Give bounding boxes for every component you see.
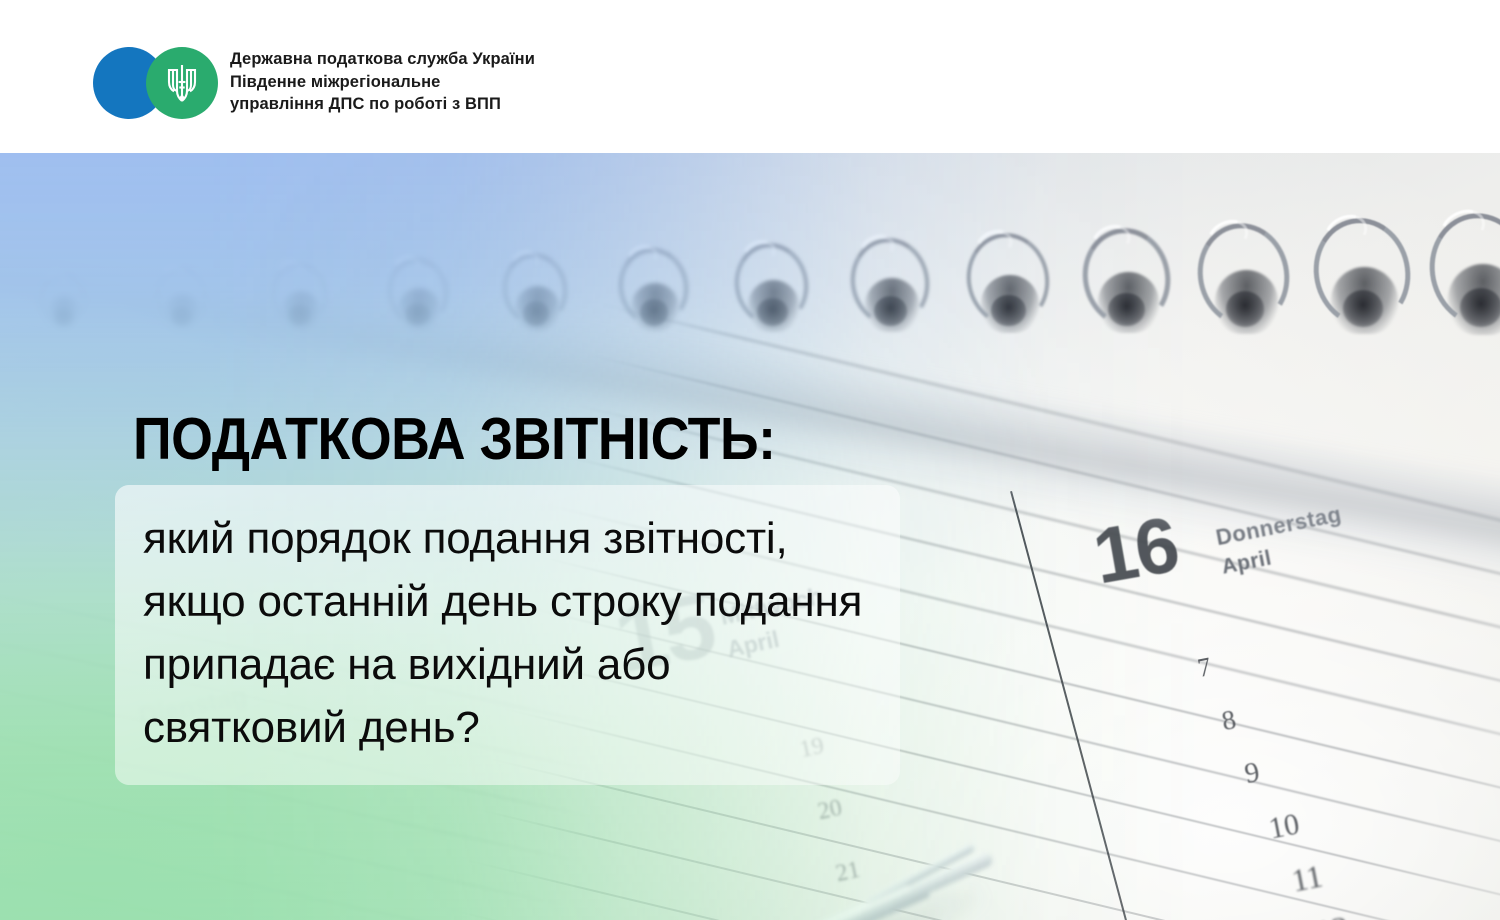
site-header: Державна податкова служба України Півден… [0, 0, 1500, 153]
org-line-2: Південне міжрегіональне [230, 71, 830, 94]
banner-question-box: який порядок подання звітності, якщо ост… [115, 485, 900, 785]
organization-logo [93, 47, 218, 119]
org-line-1: Державна податкова служба України [230, 48, 830, 71]
organization-name: Державна податкова служба України Півден… [230, 48, 830, 116]
tryzub-emblem-icon [146, 47, 218, 119]
org-line-3: управління ДПС по роботі з ВПП [230, 93, 830, 116]
poster-page: Державна податкова служба України Півден… [0, 0, 1500, 920]
banner-question-text: який порядок подання звітності, якщо ост… [143, 507, 870, 759]
hero-banner: 16 Donnerstag April 15 Mittwoch April Di… [0, 153, 1500, 920]
banner-headline: ПОДАТКОВА ЗВІТНІСТЬ: [133, 408, 776, 470]
